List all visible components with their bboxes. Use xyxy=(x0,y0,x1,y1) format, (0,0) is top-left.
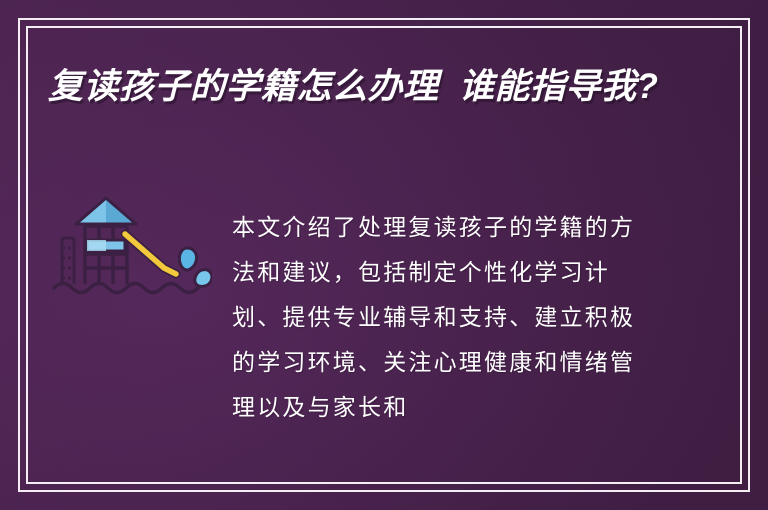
playhouse-roof-icon xyxy=(76,198,136,224)
poster-content: 复读孩子的学籍怎么办理 谁能指导我? xyxy=(0,0,768,510)
page-title: 复读孩子的学籍怎么办理 谁能指导我? xyxy=(48,62,698,112)
ground-line-icon xyxy=(54,284,198,293)
playground-illustration xyxy=(52,196,212,308)
slide-icon xyxy=(125,234,176,274)
poster-card: 复读孩子的学籍怎么办理 谁能指导我? xyxy=(0,0,768,510)
ladder-icon xyxy=(62,238,74,284)
playhouse-panel-icon xyxy=(87,240,125,251)
bush-icon xyxy=(179,248,212,286)
body-paragraph: 本文介绍了处理复读孩子的学籍的方法和建议，包括制定个性化学习计划、提供专业辅导和… xyxy=(232,206,656,431)
